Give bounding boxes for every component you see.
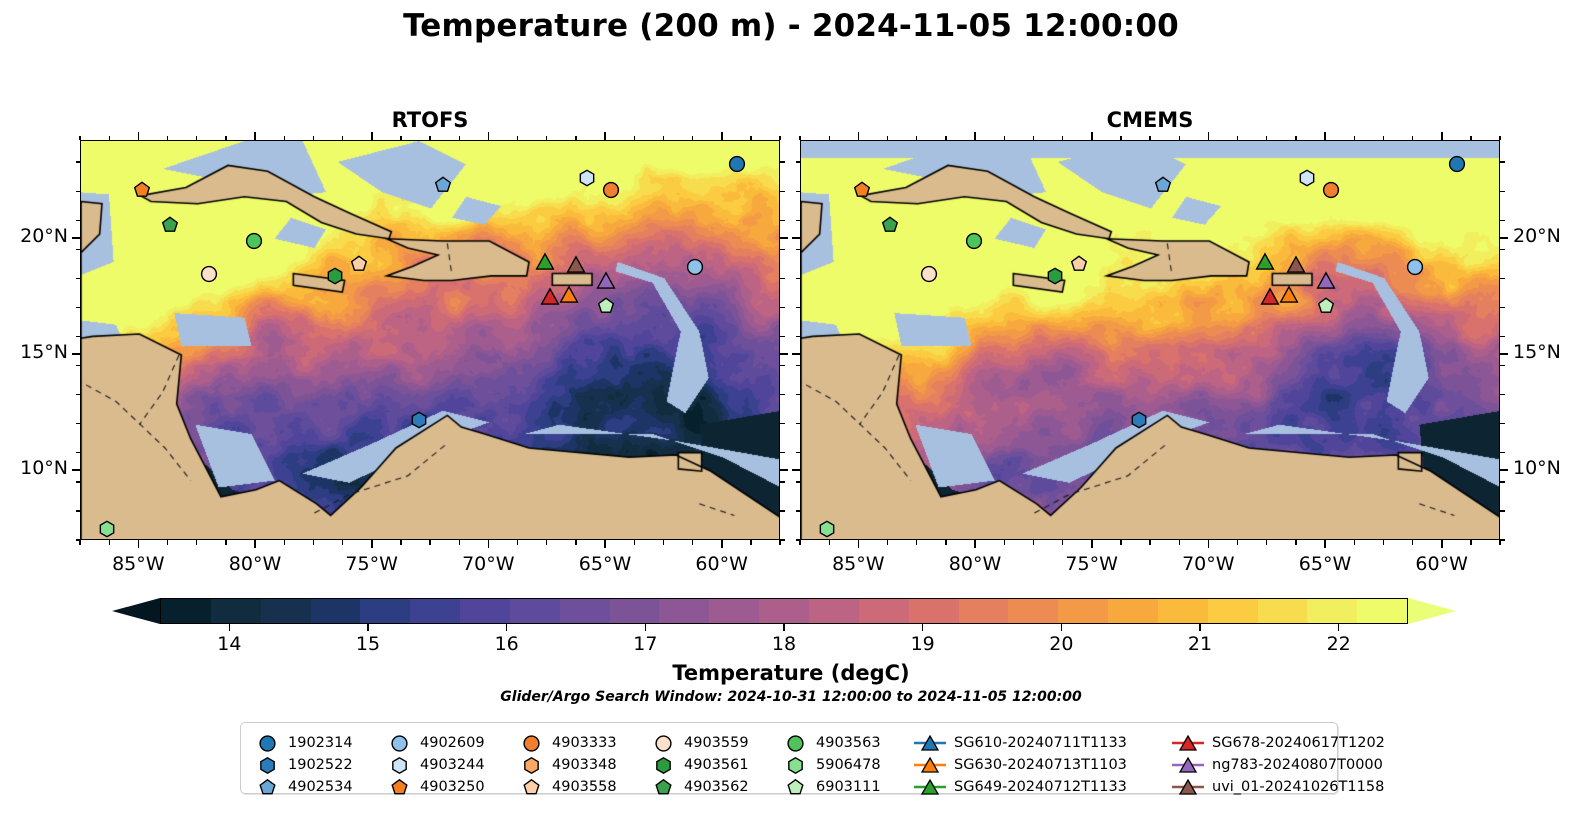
colorbar-segment xyxy=(809,599,859,623)
legend-item-uvi_01-20241026t1158[interactable]: uvi_01-20241026T1158 xyxy=(1171,776,1429,798)
axis-tick xyxy=(780,249,785,250)
colorbar-gradient xyxy=(160,598,1408,624)
axis-tick xyxy=(663,540,664,545)
legend-item-sg610-20240711t1133[interactable]: SG610-20240711T1133 xyxy=(913,732,1171,754)
colorbar-segment xyxy=(261,599,311,623)
map-marker-4903562[interactable] xyxy=(881,216,898,233)
axis-tick xyxy=(517,540,518,545)
legend-item-5906478[interactable]: 5906478 xyxy=(781,754,913,776)
colorbar-tick xyxy=(645,624,646,631)
map-marker-4903559[interactable] xyxy=(921,265,938,282)
argo-hexagon-icon xyxy=(253,757,281,774)
map-marker-ng783-20240807t0000[interactable] xyxy=(596,272,617,293)
map-marker-4902609[interactable] xyxy=(1406,258,1423,275)
axis-tick xyxy=(1412,540,1413,545)
legend-item-1902314[interactable]: 1902314 xyxy=(253,732,385,754)
axis-tick xyxy=(1500,191,1505,192)
legend-item-label: 4903563 xyxy=(816,735,881,751)
axis-tick xyxy=(459,540,460,545)
legend-item-label: 4903250 xyxy=(420,779,485,795)
axis-tick xyxy=(1383,540,1384,545)
legend-item-4903250[interactable]: 4903250 xyxy=(385,776,517,798)
axis-tick xyxy=(634,540,635,545)
axis-tick xyxy=(254,540,256,548)
map-marker-sg649-20240712t1133[interactable] xyxy=(1255,254,1276,275)
legend-item-label: 4903348 xyxy=(552,757,617,773)
axis-tick xyxy=(76,249,81,250)
axis-tick xyxy=(1441,132,1443,140)
map-marker-4903333[interactable] xyxy=(1322,181,1339,198)
colorbar-segment xyxy=(1208,599,1258,623)
argo-pentagon-icon xyxy=(253,779,281,796)
colorbar-tick xyxy=(1061,624,1062,631)
axis-tick-label: 20°N xyxy=(0,225,68,247)
axis-tick xyxy=(780,452,785,453)
axis-tick xyxy=(76,161,81,162)
axis-tick xyxy=(780,161,785,162)
map-marker-1902522[interactable] xyxy=(1131,412,1148,429)
colorbar-segment xyxy=(1058,599,1108,623)
axis-tick-label: 70°W xyxy=(443,553,533,575)
legend-item-ng783-20240807t0000[interactable]: ng783-20240807T0000 xyxy=(1171,754,1429,776)
glider-triangle-icon xyxy=(913,734,947,752)
axis-tick xyxy=(796,539,801,540)
axis-tick xyxy=(109,136,110,141)
legend-item-label: 4903244 xyxy=(420,757,485,773)
axis-tick xyxy=(1500,220,1505,221)
axis-tick xyxy=(1500,278,1505,279)
map-marker-uvi_01-20241026t1158[interactable] xyxy=(565,256,586,277)
axis-tick-label: 85°W xyxy=(93,553,183,575)
axis-tick xyxy=(780,469,788,471)
colorbar-extend-min xyxy=(112,598,160,624)
axis-tick xyxy=(796,161,801,162)
axis-tick xyxy=(546,540,547,545)
axis-tick xyxy=(546,136,547,141)
axis-tick xyxy=(796,336,801,337)
legend-item-label: 4903559 xyxy=(684,735,749,751)
axis-tick xyxy=(138,540,140,548)
axis-tick xyxy=(974,132,976,140)
glider-triangle-icon xyxy=(913,756,947,774)
axis-tick xyxy=(76,452,81,453)
map-marker-4903558[interactable] xyxy=(350,256,367,273)
axis-tick xyxy=(1120,540,1121,545)
axis-tick xyxy=(887,540,888,545)
axis-tick xyxy=(313,136,314,141)
axis-tick xyxy=(72,353,80,355)
axis-tick xyxy=(167,136,168,141)
axis-tick xyxy=(254,132,256,140)
axis-tick xyxy=(76,191,81,192)
axis-tick xyxy=(196,136,197,141)
axis-tick xyxy=(429,540,430,545)
axis-tick xyxy=(225,136,226,141)
axis-tick-label: 65°W xyxy=(1280,553,1370,575)
axis-tick-label: 80°W xyxy=(930,553,1020,575)
map-marker-4903558[interactable] xyxy=(1070,256,1087,273)
axis-tick-label: 15°N xyxy=(1513,341,1582,363)
axis-tick xyxy=(604,540,606,548)
axis-tick xyxy=(750,136,751,141)
legend-item-4903348[interactable]: 4903348 xyxy=(517,754,649,776)
legend-item-sg630-20240713t1103[interactable]: SG630-20240713T1103 xyxy=(913,754,1171,776)
colorbar-segment xyxy=(560,599,610,623)
map-marker-4902534[interactable] xyxy=(434,177,451,194)
legend-item-4903559[interactable]: 4903559 xyxy=(649,732,781,754)
axis-tick-label: 60°W xyxy=(677,553,767,575)
axis-tick xyxy=(1033,540,1034,545)
legend-item-sg649-20240712t1133[interactable]: SG649-20240712T1133 xyxy=(913,776,1171,798)
map-marker-4903561[interactable] xyxy=(327,267,344,284)
colorbar-tick-label: 20 xyxy=(1049,633,1073,655)
axis-tick xyxy=(1500,481,1505,482)
axis-tick xyxy=(1500,394,1505,395)
axis-tick xyxy=(76,220,81,221)
map-marker-5906478[interactable] xyxy=(98,521,115,538)
axis-tick xyxy=(1149,540,1150,545)
colorbar-segment xyxy=(1008,599,1058,623)
axis-tick xyxy=(1500,365,1505,366)
axis-tick xyxy=(1208,540,1210,548)
axis-tick xyxy=(692,136,693,141)
axis-tick xyxy=(779,136,780,141)
axis-tick xyxy=(1120,136,1121,141)
axis-tick xyxy=(76,278,81,279)
map-panel-rtofs[interactable] xyxy=(80,140,780,540)
colorbar-tick xyxy=(783,624,784,631)
axis-tick xyxy=(76,481,81,482)
map-marker-4903250[interactable] xyxy=(853,181,870,198)
map-marker-6903111[interactable] xyxy=(598,298,615,315)
map-panel-cmems[interactable] xyxy=(800,140,1500,540)
axis-tick xyxy=(721,132,723,140)
colorbar-tick-label: 17 xyxy=(633,633,657,655)
argo-pentagon-icon xyxy=(385,779,413,796)
colorbar-segment xyxy=(1307,599,1357,623)
axis-tick xyxy=(945,540,946,545)
panel-title-cmems: CMEMS xyxy=(800,108,1500,132)
map-marker-1902522[interactable] xyxy=(411,412,428,429)
axis-tick xyxy=(796,249,801,250)
axis-tick xyxy=(1033,136,1034,141)
colorbar-tick xyxy=(1199,624,1200,631)
temperature-field-rtofs xyxy=(81,141,780,540)
axis-tick xyxy=(792,237,800,239)
axis-tick xyxy=(916,540,917,545)
axis-tick xyxy=(76,423,81,424)
axis-tick xyxy=(342,136,343,141)
legend-item-label: 4903561 xyxy=(684,757,749,773)
legend[interactable]: 19023144902609490333349035594903563SG610… xyxy=(240,722,1338,794)
map-marker-1902314[interactable] xyxy=(1448,156,1465,173)
axis-tick xyxy=(1237,540,1238,545)
axis-tick xyxy=(1499,136,1500,141)
colorbar-extend-max xyxy=(1408,598,1456,624)
argo-hexagon-icon xyxy=(385,757,413,774)
colorbar-title: Temperature (degC) xyxy=(0,661,1582,685)
legend-item-4903558[interactable]: 4903558 xyxy=(517,776,649,798)
axis-tick xyxy=(780,481,785,482)
axis-tick xyxy=(1004,540,1005,545)
axis-tick xyxy=(1470,540,1471,545)
axis-tick xyxy=(796,191,801,192)
axis-tick xyxy=(945,136,946,141)
axis-tick-label: 80°W xyxy=(210,553,300,575)
axis-tick xyxy=(780,307,785,308)
map-marker-1902314[interactable] xyxy=(728,156,745,173)
colorbar-tick xyxy=(367,624,368,631)
axis-tick xyxy=(634,136,635,141)
legend-item-label: SG630-20240713T1103 xyxy=(954,757,1127,773)
axis-tick xyxy=(858,132,860,140)
argo-circle-icon xyxy=(517,735,545,752)
colorbar-segment xyxy=(211,599,261,623)
map-marker-4903561[interactable] xyxy=(1047,267,1064,284)
axis-tick xyxy=(663,136,664,141)
axis-tick xyxy=(400,136,401,141)
axis-tick xyxy=(1237,136,1238,141)
axis-tick xyxy=(1149,136,1150,141)
colorbar-tick xyxy=(506,624,507,631)
colorbar-segment xyxy=(311,599,361,623)
axis-tick xyxy=(1091,540,1093,548)
colorbar-segment xyxy=(1258,599,1308,623)
axis-tick xyxy=(780,191,785,192)
axis-tick xyxy=(796,452,801,453)
legend-item-label: 4903333 xyxy=(552,735,617,751)
axis-tick xyxy=(887,136,888,141)
axis-tick-label: 10°N xyxy=(1513,457,1582,479)
axis-tick xyxy=(1500,510,1505,511)
axis-tick xyxy=(1500,336,1505,337)
axis-tick xyxy=(792,469,800,471)
axis-tick xyxy=(1062,540,1063,545)
axis-tick xyxy=(459,136,460,141)
axis-tick xyxy=(1324,540,1326,548)
argo-circle-icon xyxy=(781,735,809,752)
colorbar-segment xyxy=(161,599,211,623)
axis-tick xyxy=(780,336,785,337)
colorbar-segment xyxy=(610,599,660,623)
axis-tick xyxy=(1266,540,1267,545)
axis-tick xyxy=(829,540,830,545)
map-marker-sg649-20240712t1133[interactable] xyxy=(535,254,556,275)
colorbar-tick xyxy=(229,624,230,631)
argo-circle-icon xyxy=(253,735,281,752)
axis-tick xyxy=(76,394,81,395)
axis-tick xyxy=(429,136,430,141)
legend-item-4903562[interactable]: 4903562 xyxy=(649,776,781,798)
axis-tick xyxy=(780,423,785,424)
glider-triangle-icon xyxy=(913,778,947,796)
axis-tick xyxy=(1208,132,1210,140)
axis-tick xyxy=(1295,540,1296,545)
map-marker-4903333[interactable] xyxy=(602,181,619,198)
axis-tick xyxy=(1441,540,1443,548)
axis-tick xyxy=(76,510,81,511)
map-marker-4903563[interactable] xyxy=(245,233,262,250)
legend-item-label: 4902609 xyxy=(420,735,485,751)
map-marker-4903250[interactable] xyxy=(133,181,150,198)
axis-tick xyxy=(1500,353,1508,355)
map-marker-ng783-20240807t0000[interactable] xyxy=(1316,272,1337,293)
map-marker-uvi_01-20241026t1158[interactable] xyxy=(1285,256,1306,277)
map-marker-sg630-20240713t1103[interactable] xyxy=(1278,286,1299,307)
axis-tick xyxy=(1354,540,1355,545)
colorbar-segment xyxy=(659,599,709,623)
axis-tick xyxy=(796,510,801,511)
axis-tick xyxy=(76,307,81,308)
axis-tick xyxy=(284,136,285,141)
map-marker-4903559[interactable] xyxy=(201,265,218,282)
axis-tick xyxy=(974,540,976,548)
colorbar-segment xyxy=(959,599,1009,623)
axis-tick xyxy=(1470,136,1471,141)
axis-tick xyxy=(167,540,168,545)
axis-tick xyxy=(1412,136,1413,141)
colorbar-segment xyxy=(859,599,909,623)
axis-tick-label: 15°N xyxy=(0,341,68,363)
legend-item-4903333[interactable]: 4903333 xyxy=(517,732,649,754)
axis-tick xyxy=(371,540,373,548)
legend-item-4903561[interactable]: 4903561 xyxy=(649,754,781,776)
legend-item-label: SG649-20240712T1133 xyxy=(954,779,1127,795)
axis-tick xyxy=(1091,132,1093,140)
axis-tick xyxy=(1004,136,1005,141)
axis-tick xyxy=(72,237,80,239)
axis-tick xyxy=(1500,539,1505,540)
colorbar-segment xyxy=(510,599,560,623)
colorbar-segment xyxy=(1158,599,1208,623)
colorbar-segment xyxy=(759,599,809,623)
legend-item-label: 4902534 xyxy=(288,779,353,795)
legend-item-6903111[interactable]: 6903111 xyxy=(781,776,913,798)
axis-tick-label: 75°W xyxy=(1047,553,1137,575)
map-marker-4903563[interactable] xyxy=(965,233,982,250)
legend-item-sg678-20240617t1202[interactable]: SG678-20240617T1202 xyxy=(1171,732,1429,754)
axis-tick xyxy=(1295,136,1296,141)
axis-tick xyxy=(796,394,801,395)
legend-item-1902522[interactable]: 1902522 xyxy=(253,754,385,776)
colorbar-segment xyxy=(410,599,460,623)
colorbar-tick-label: 21 xyxy=(1188,633,1212,655)
axis-tick xyxy=(1383,136,1384,141)
glider-triangle-icon xyxy=(1171,756,1205,774)
colorbar-tick-label: 16 xyxy=(495,633,519,655)
map-marker-4902609[interactable] xyxy=(686,258,703,275)
map-marker-sg630-20240713t1103[interactable] xyxy=(558,286,579,307)
axis-tick xyxy=(1500,307,1505,308)
legend-item-4902609[interactable]: 4902609 xyxy=(385,732,517,754)
axis-tick xyxy=(76,336,81,337)
axis-tick xyxy=(1500,161,1505,162)
axis-tick xyxy=(796,481,801,482)
axis-tick xyxy=(780,220,785,221)
glider-triangle-icon xyxy=(1171,734,1205,752)
argo-pentagon-icon xyxy=(517,779,545,796)
axis-tick xyxy=(780,278,785,279)
colorbar-tick-label: 14 xyxy=(217,633,241,655)
legend-item-label: 1902314 xyxy=(288,735,353,751)
axis-tick xyxy=(796,423,801,424)
map-marker-4903562[interactable] xyxy=(161,216,178,233)
axis-tick xyxy=(371,132,373,140)
figure-title: Temperature (200 m) - 2024-11-05 12:00:0… xyxy=(0,8,1582,44)
axis-tick xyxy=(780,539,785,540)
colorbar-tick-label: 19 xyxy=(911,633,935,655)
axis-tick xyxy=(1354,136,1355,141)
axis-tick xyxy=(1500,249,1505,250)
axis-tick xyxy=(780,237,788,239)
axis-tick-label: 65°W xyxy=(560,553,650,575)
axis-tick xyxy=(799,136,800,141)
axis-tick-label: 60°W xyxy=(1397,553,1487,575)
axis-tick xyxy=(1062,136,1063,141)
colorbar-tick xyxy=(922,624,923,631)
glider-triangle-icon xyxy=(1171,778,1205,796)
axis-tick xyxy=(109,540,110,545)
colorbar-segment xyxy=(460,599,510,623)
axis-tick xyxy=(1500,469,1508,471)
legend-item-4902534[interactable]: 4902534 xyxy=(253,776,385,798)
argo-hexagon-icon xyxy=(649,757,677,774)
axis-tick xyxy=(284,540,285,545)
axis-tick xyxy=(79,136,80,141)
axis-tick xyxy=(1324,132,1326,140)
legend-item-label: 5906478 xyxy=(816,757,881,773)
axis-tick xyxy=(138,132,140,140)
search-window-label: Glider/Argo Search Window: 2024-10-31 12… xyxy=(0,689,1582,705)
axis-tick xyxy=(780,365,785,366)
axis-tick xyxy=(1179,136,1180,141)
legend-item-label: 4903562 xyxy=(684,779,749,795)
axis-tick xyxy=(1266,136,1267,141)
axis-tick-label: 10°N xyxy=(0,457,68,479)
axis-tick xyxy=(575,136,576,141)
argo-hexagon-icon xyxy=(517,757,545,774)
axis-tick xyxy=(575,540,576,545)
axis-tick xyxy=(780,510,785,511)
axis-tick xyxy=(313,540,314,545)
map-marker-5906478[interactable] xyxy=(818,521,835,538)
panel-title-rtofs: RTOFS xyxy=(80,108,780,132)
map-marker-6903111[interactable] xyxy=(1318,298,1335,315)
axis-tick xyxy=(488,132,490,140)
axis-tick xyxy=(1179,540,1180,545)
axis-tick xyxy=(1500,237,1508,239)
colorbar-segment xyxy=(909,599,959,623)
legend-item-4903244[interactable]: 4903244 xyxy=(385,754,517,776)
axis-tick xyxy=(721,540,723,548)
axis-tick xyxy=(400,540,401,545)
map-marker-4903244[interactable] xyxy=(1299,170,1316,187)
axis-tick xyxy=(692,540,693,545)
legend-item-label: SG678-20240617T1202 xyxy=(1212,735,1385,751)
colorbar-segment xyxy=(1108,599,1158,623)
axis-tick xyxy=(488,540,490,548)
colorbar-tick-label: 22 xyxy=(1327,633,1351,655)
axis-tick xyxy=(796,220,801,221)
map-marker-4902534[interactable] xyxy=(1154,177,1171,194)
legend-item-label: 6903111 xyxy=(816,779,881,795)
legend-item-label: ng783-20240807T0000 xyxy=(1212,757,1383,773)
legend-item-4903563[interactable]: 4903563 xyxy=(781,732,913,754)
axis-tick-label: 20°N xyxy=(1513,225,1582,247)
map-marker-4903244[interactable] xyxy=(579,170,596,187)
axis-tick xyxy=(76,539,81,540)
axis-tick xyxy=(858,540,860,548)
